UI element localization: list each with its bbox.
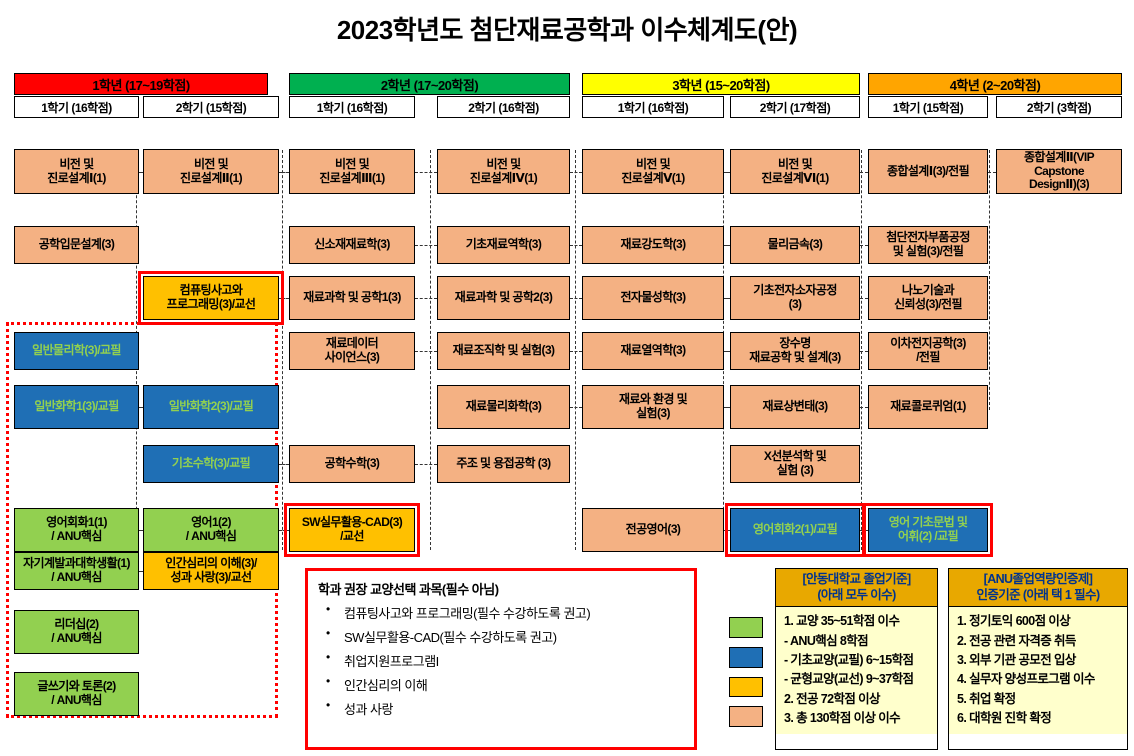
year-header-4: 4학년 (2~20학점) (868, 73, 1122, 95)
course-box[interactable]: 비전 및진로설계Ⅲ(1) (289, 149, 415, 194)
connector-row4-3-4 (570, 407, 582, 408)
connector-row0-6-7 (988, 172, 996, 173)
course-box[interactable]: 공학수학(3) (289, 445, 415, 483)
graduation-criteria-item: - 기초교양(교필) 6~15학점 (784, 651, 931, 670)
course-label: 영어회화1(1)/ ANU핵심 (46, 516, 107, 544)
course-label: 재료물리화학(3) (466, 400, 542, 414)
connector-row0-5-6 (860, 172, 868, 173)
graduation-criteria-item: 2. 전공 72학점 이상 (784, 690, 931, 709)
recommended-electives-heading: 학과 권장 교양선택 과목(필수 아님) (318, 579, 684, 598)
graduation-criteria-heading: [안동대학교 졸업기준] (아래 모두 이수) (776, 569, 937, 607)
course-label: 비전 및진로설계Ⅲ(1) (319, 158, 384, 186)
certification-criteria-item: 3. 외부 기관 공모전 입상 (957, 651, 1121, 670)
course-label: 인간심리의 이해(3)/성과 사랑(3)/교선 (165, 557, 256, 585)
recommended-elective-item: 성과 사랑 (344, 699, 684, 718)
course-label: 이차전지공학(3)/전필 (890, 337, 966, 365)
course-label: 비전 및진로설계Ⅱ(1) (180, 158, 242, 186)
semester-header-3-2: 2학기 (17학점) (730, 96, 860, 118)
connector-row1-5-6 (860, 245, 868, 246)
course-box[interactable]: X선분석학 및실험 (3) (730, 445, 860, 483)
semester-header-4-2: 2학기 (3학점) (996, 96, 1122, 118)
course-label: 일반화학1(3)/교필 (34, 400, 118, 414)
column-separator-7 (989, 150, 990, 410)
certification-criteria-heading: [ANU졸업역량인증제] 인증기준 (아래 택 1 필수) (949, 569, 1127, 607)
course-label: 재료데이터사이언스(3) (325, 337, 380, 365)
semester-header-1-2: 2학기 (15학점) (143, 96, 279, 118)
course-label: X선분석학 및실험 (3) (764, 450, 826, 478)
column-separator-2 (282, 150, 283, 550)
connector-row5-2-3 (415, 464, 437, 465)
course-label: 전자물성학(3) (620, 291, 685, 305)
column-separator-6 (861, 150, 862, 550)
course-box[interactable]: 물리금속(3) (730, 226, 860, 264)
course-box[interactable]: 자기계발과대학생활(1)/ ANU핵심 (14, 552, 139, 590)
course-box[interactable]: 일반물리학(3)/교필 (14, 332, 139, 370)
course-box[interactable]: 재료상변태(3) (730, 385, 860, 429)
connector-row1-2-3 (415, 245, 437, 246)
course-box[interactable]: 비전 및진로설계Ⅴ(1) (582, 149, 724, 194)
course-label: 첨단전자부품공정및 실험(3)/전필 (886, 231, 970, 259)
course-box[interactable]: 공학입문설계(3) (14, 226, 139, 264)
course-box[interactable]: 일반화학2(3)/교필 (143, 385, 279, 429)
course-box[interactable]: 재료물리화학(3) (437, 385, 570, 429)
course-label: 종합설계Ⅰ(3)/전필 (887, 165, 969, 179)
course-label: 재료콜로퀴엄(1) (890, 400, 966, 414)
course-box[interactable]: 영어 기초문법 및어휘(2) /교필 (868, 508, 988, 552)
graduation-criteria-heading-line2: (아래 모두 이수) (778, 588, 935, 604)
course-label: 재료강도학(3) (620, 238, 685, 252)
major-swatch (729, 706, 763, 727)
course-box[interactable]: 재료조직학 및 실험(3) (437, 332, 570, 370)
graduation-criteria-item: 3. 총 130학점 이상 이수 (784, 709, 931, 728)
course-label: 컴퓨팅사고와프로그래밍(3)/교선 (167, 284, 256, 312)
graduation-criteria-item: 1. 교양 35~51학점 이수 (784, 612, 931, 631)
course-label: 신소재재료학(3) (314, 238, 390, 252)
course-label: 주조 및 용접공학 (3) (456, 457, 550, 471)
course-box[interactable]: 재료열역학(3) (582, 332, 724, 370)
certification-criteria-item: 4. 실무자 양성프로그램 이수 (957, 670, 1121, 689)
course-label: 일반물리학(3)/교필 (32, 344, 121, 358)
semester-header-2-2: 2학기 (16학점) (437, 96, 570, 118)
course-label: 기초재료역학(3) (466, 238, 542, 252)
semester-header-1-1: 1학기 (16학점) (14, 96, 139, 118)
course-box[interactable]: 비전 및진로설계Ⅵ(1) (730, 149, 860, 194)
course-label: 글쓰기와 토론(2)/ ANU핵심 (37, 680, 115, 708)
course-box[interactable]: 재료과학 및 공학1(3) (289, 276, 415, 320)
balanced-liberal-swatch (729, 677, 763, 698)
course-box[interactable]: 기초전자소자공정(3) (730, 276, 860, 320)
course-label: 물리금속(3) (768, 238, 823, 252)
connector-row0-2-3 (415, 172, 437, 173)
course-box[interactable]: 신소재재료학(3) (289, 226, 415, 264)
curriculum-flowchart: 2023학년도 첨단재료공학과 이수체계도(안) 1학년 (17~19학점)1학… (0, 0, 1134, 756)
certification-criteria-item: 1. 정기토익 600점 이상 (957, 612, 1121, 631)
course-label: 일반화학2(3)/교필 (169, 400, 253, 414)
course-box[interactable]: 컴퓨팅사고와프로그래밍(3)/교선 (143, 276, 279, 320)
connector-row5-1-2 (279, 464, 289, 465)
certification-criteria-item: 5. 취업 확정 (957, 690, 1121, 709)
course-box[interactable]: 재료강도학(3) (582, 226, 724, 264)
semester-header-2-1: 1학기 (16학점) (289, 96, 415, 118)
course-box[interactable]: 글쓰기와 토론(2)/ ANU핵심 (14, 672, 139, 716)
recommended-elective-item: 컴퓨팅사고와 프로그래밍(필수 수강하도록 권고) (344, 603, 684, 622)
certification-criteria-heading-line1: [ANU졸업역량인증제] (951, 572, 1125, 588)
course-box[interactable]: 재료콜로퀴엄(1) (868, 385, 988, 429)
course-label: 기초수학(3)/교필 (172, 457, 250, 471)
course-box[interactable]: 인간심리의 이해(3)/성과 사랑(3)/교선 (143, 552, 279, 590)
course-label: 재료과학 및 공학2(3) (455, 291, 553, 305)
connector-row3-3-4 (570, 351, 582, 352)
connector-row4-5-6 (860, 407, 868, 408)
course-label: 종합설계Ⅱ(VIP CapstoneDesignⅡ)(3) (999, 151, 1119, 192)
graduation-criteria-panel: [안동대학교 졸업기준] (아래 모두 이수) 1. 교양 35~51학점 이수… (775, 568, 938, 750)
course-label: 자기계발과대학생활(1)/ ANU핵심 (23, 557, 130, 585)
course-label: 재료열역학(3) (620, 344, 685, 358)
graduation-criteria-item: - ANU핵심 8학점 (784, 632, 931, 651)
certification-criteria-panel: [ANU졸업역량인증제] 인증기준 (아래 택 1 필수) 1. 정기토익 60… (948, 568, 1128, 750)
graduation-criteria-list: 1. 교양 35~51학점 이수- ANU핵심 8학점- 기초교양(교필) 6~… (776, 607, 937, 733)
course-box[interactable]: 종합설계Ⅱ(VIP CapstoneDesignⅡ)(3) (996, 149, 1122, 194)
course-box[interactable]: 종합설계Ⅰ(3)/전필 (868, 149, 988, 194)
certification-criteria-item: 2. 전공 관련 자격증 취득 (957, 632, 1121, 651)
course-box[interactable]: 장수명재료공학 및 설계(3) (730, 332, 860, 370)
course-box[interactable]: 비전 및진로설계Ⅱ(1) (143, 149, 279, 194)
certification-criteria-item: 6. 대학원 진학 확정 (957, 709, 1121, 728)
course-box[interactable]: 비전 및진로설계Ⅳ(1) (437, 149, 570, 194)
color-legend (729, 617, 769, 727)
course-label: 전공영어(3) (626, 523, 681, 537)
course-label: SW실무활용-CAD(3)/교선 (302, 516, 402, 544)
semester-header-4-1: 1학기 (15학점) (868, 96, 988, 118)
course-label: 비전 및진로설계Ⅵ(1) (761, 158, 828, 186)
recommended-elective-item: SW실무활용-CAD(필수 수강하도록 권고) (344, 627, 684, 646)
course-box[interactable]: 리더십(2)/ ANU핵심 (14, 610, 139, 654)
graduation-criteria-heading-line1: [안동대학교 졸업기준] (778, 572, 935, 588)
column-separator-4 (575, 150, 576, 550)
course-box[interactable]: 비전 및진로설계Ⅰ(1) (14, 149, 139, 194)
certification-criteria-heading-line2: 인증기준 (아래 택 1 필수) (951, 588, 1125, 604)
connector-row2-5-6 (860, 298, 868, 299)
course-box[interactable]: 재료과학 및 공학2(3) (437, 276, 570, 320)
basic-liberal-swatch (729, 647, 763, 668)
connector-row0-3-4 (570, 172, 582, 173)
course-label: 비전 및진로설계Ⅳ(1) (470, 158, 537, 186)
course-label: 나노기술과신뢰성(3)/전필 (894, 284, 962, 312)
certification-criteria-list: 1. 정기토익 600점 이상2. 전공 관련 자격증 취득3. 외부 기관 공… (949, 607, 1127, 733)
recommended-electives-list: 컴퓨팅사고와 프로그래밍(필수 수강하도록 권고)SW실무활용-CAD(필수 수… (318, 603, 684, 718)
course-box[interactable]: 영어회화1(1)/ ANU핵심 (14, 508, 139, 552)
course-label: 재료조직학 및 실험(3) (453, 344, 555, 358)
column-separator-3 (430, 150, 431, 550)
course-box[interactable]: 기초수학(3)/교필 (143, 445, 279, 483)
graduation-criteria-item: - 균형교양(교선) 9~37학점 (784, 670, 931, 689)
course-label: 공학입문설계(3) (39, 238, 115, 252)
connector-row3-5-6 (860, 351, 868, 352)
year-header-3: 3학년 (15~20학점) (582, 73, 860, 95)
course-label: 재료상변태(3) (762, 400, 827, 414)
course-box[interactable]: 영어1(2)/ ANU핵심 (143, 508, 279, 552)
year-header-2: 2학년 (17~20학점) (289, 73, 570, 95)
course-box[interactable]: 첨단전자부품공정및 실험(3)/전필 (868, 226, 988, 264)
course-box[interactable]: 재료데이터사이언스(3) (289, 332, 415, 370)
course-box[interactable]: 전자물성학(3) (582, 276, 724, 320)
course-box[interactable]: 주조 및 용접공학 (3) (437, 445, 570, 483)
connector-row1-3-4 (570, 245, 582, 246)
course-label: 영어1(2)/ ANU핵심 (186, 516, 237, 544)
recommended-electives-panel: 학과 권장 교양선택 과목(필수 아님) 컴퓨팅사고와 프로그래밍(필수 수강하… (305, 568, 697, 750)
course-box[interactable]: 재료와 환경 및실험(3) (582, 385, 724, 429)
course-label: 장수명재료공학 및 설계(3) (749, 337, 840, 365)
connector-row0-1-2 (279, 172, 289, 173)
course-label: 비전 및진로설계Ⅰ(1) (47, 158, 106, 186)
course-box[interactable]: 나노기술과신뢰성(3)/전필 (868, 276, 988, 320)
course-label: 재료과학 및 공학1(3) (303, 291, 401, 305)
course-label: 영어회화2(1)/교필 (753, 523, 837, 537)
page-title: 2023학년도 첨단재료공학과 이수체계도(안) (0, 10, 1134, 47)
course-label: 영어 기초문법 및어휘(2) /교필 (889, 516, 968, 544)
course-box[interactable]: 이차전지공학(3)/전필 (868, 332, 988, 370)
semester-header-3-1: 1학기 (16학점) (582, 96, 724, 118)
course-label: 공학수학(3) (325, 457, 380, 471)
recommended-elective-item: 인간심리의 이해 (344, 675, 684, 694)
course-label: 재료와 환경 및실험(3) (619, 393, 687, 421)
course-label: 리더십(2)/ ANU핵심 (51, 618, 102, 646)
connector-row3-2-3 (415, 351, 437, 352)
course-label: 비전 및진로설계Ⅴ(1) (621, 158, 684, 186)
course-box[interactable]: SW실무활용-CAD(3)/교선 (289, 508, 415, 552)
course-label: 기초전자소자공정(3) (753, 284, 837, 312)
connector-row2-3-4 (570, 298, 582, 299)
recommended-elective-item: 취업지원프로그램I (344, 651, 684, 670)
course-box[interactable]: 일반화학1(3)/교필 (14, 385, 139, 429)
connector-row2-2-3 (415, 298, 437, 299)
course-box[interactable]: 기초재료역학(3) (437, 226, 570, 264)
course-box[interactable]: 전공영어(3) (582, 508, 724, 552)
course-box[interactable]: 영어회화2(1)/교필 (730, 508, 860, 552)
year-header-1: 1학년 (17~19학점) (14, 73, 268, 95)
anu-core-swatch (729, 617, 763, 638)
